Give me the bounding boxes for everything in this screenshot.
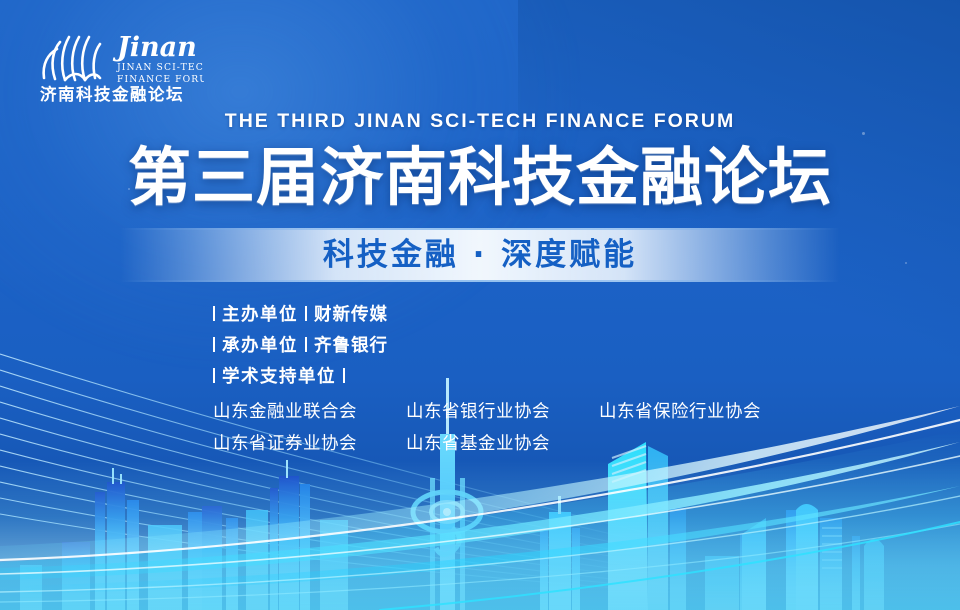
left-rule-icon (213, 337, 215, 352)
organizers-block: 主办单位 财新传媒 承办单位 齐鲁银行 学术支持单位 山东金融业联合会 山东省银… (213, 300, 761, 459)
sparkle-dot (905, 262, 907, 264)
mid-rule-icon (305, 337, 307, 352)
support-row: 山东金融业联合会 山东省银行业协会 山东省保险行业协会 (213, 395, 761, 427)
left-rule-icon (213, 306, 215, 321)
support-row: 山东省证券业协会 山东省基金业协会 (213, 427, 761, 459)
support-item: 山东省证券业协会 (213, 427, 406, 459)
host-value: 财新传媒 (314, 300, 388, 328)
academic-support-header: 学术支持单位 (213, 362, 761, 390)
support-item: 山东省银行业协会 (406, 395, 599, 427)
organizer-label: 承办单位 (222, 331, 298, 359)
eyebrow-english-title: THE THIRD JINAN SCI-TECH FINANCE FORUM (0, 112, 960, 132)
sparkle-dot (128, 188, 130, 190)
mid-rule-icon (305, 306, 307, 321)
subtitle-text: 科技金融 · 深度赋能 (120, 228, 840, 282)
sparkle-dot (862, 132, 865, 135)
support-item: 山东金融业联合会 (213, 395, 406, 427)
logo-english-line-2: FINANCE FORUM (117, 74, 204, 85)
lotus-petal-mark (44, 37, 100, 80)
forum-logo: Jinan JINAN SCI-TECH FINANCE FORUM 济南科技金… (24, 22, 204, 104)
poster-canvas: Jinan JINAN SCI-TECH FINANCE FORUM 济南科技金… (0, 0, 960, 610)
page-title: 第三届济南科技金融论坛 (0, 145, 960, 211)
support-item: 山东省保险行业协会 (599, 395, 761, 427)
organizer-value: 齐鲁银行 (314, 331, 388, 359)
logo-english-line-1: JINAN SCI-TECH (116, 62, 204, 73)
host-label: 主办单位 (222, 300, 298, 328)
support-item: 山东省基金业协会 (406, 427, 550, 459)
academic-support-label: 学术支持单位 (222, 362, 336, 390)
host-row: 主办单位 财新传媒 (213, 300, 761, 328)
logo-chinese: 济南科技金融论坛 (40, 84, 184, 104)
subtitle-band: 科技金融 · 深度赋能 (120, 228, 840, 282)
left-rule-icon (213, 368, 215, 383)
right-rule-icon (343, 368, 345, 383)
academic-support-list: 山东金融业联合会 山东省银行业协会 山东省保险行业协会 山东省证券业协会 山东省… (213, 395, 761, 459)
logo-wordmark: Jinan (112, 32, 197, 63)
organizer-row: 承办单位 齐鲁银行 (213, 331, 761, 359)
headline-block: THE THIRD JINAN SCI-TECH FINANCE FORUM 第… (0, 112, 960, 210)
